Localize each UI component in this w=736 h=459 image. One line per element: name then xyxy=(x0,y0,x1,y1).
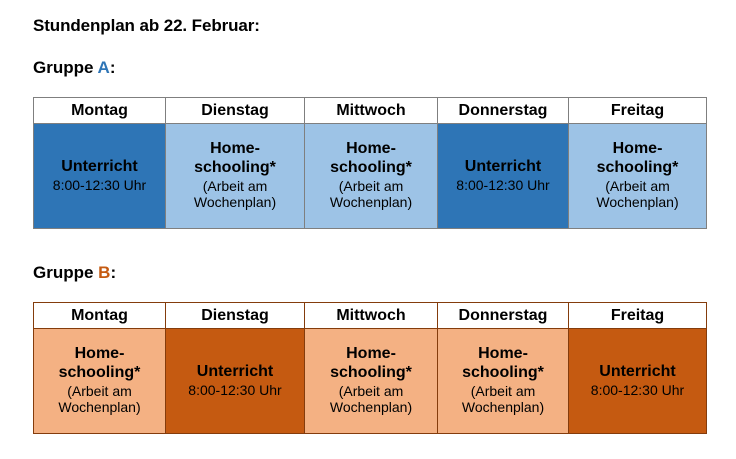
cell-sub-text: (Arbeit amWochenplan) xyxy=(573,178,702,211)
cell-group-b-donnerstag: Home-schooling* (Arbeit amWochenplan) xyxy=(438,329,569,434)
table-row: Home-schooling* (Arbeit amWochenplan) Un… xyxy=(34,329,707,434)
column-header-donnerstag: Donnerstag xyxy=(438,98,569,124)
cell-main-text: Home-schooling* xyxy=(38,345,161,382)
group-b-letter: B xyxy=(98,263,110,282)
cell-group-a-montag: Unterricht 8:00-12:30 Uhr xyxy=(34,124,166,229)
group-a-letter: A xyxy=(98,58,110,77)
cell-group-a-dienstag: Home-schooling* (Arbeit amWochenplan) xyxy=(166,124,305,229)
table-header-row: Montag Dienstag Mittwoch Donnerstag Frei… xyxy=(34,98,707,124)
cell-sub-text: 8:00-12:30 Uhr xyxy=(442,177,564,193)
group-b-label-suffix: : xyxy=(110,263,116,282)
schedule-table-group-a: Montag Dienstag Mittwoch Donnerstag Frei… xyxy=(33,97,707,229)
cell-group-a-freitag: Home-schooling* (Arbeit amWochenplan) xyxy=(569,124,707,229)
column-header-montag: Montag xyxy=(34,303,166,329)
cell-main-text: Home-schooling* xyxy=(170,140,300,177)
cell-main-text: Home-schooling* xyxy=(309,140,433,177)
column-header-freitag: Freitag xyxy=(569,303,707,329)
cell-sub-text: 8:00-12:30 Uhr xyxy=(573,382,702,398)
cell-main-text: Unterricht xyxy=(170,363,300,382)
schedule-page: Stundenplan ab 22. Februar: Gruppe A: Mo… xyxy=(0,0,736,459)
cell-main-text: Home-schooling* xyxy=(309,345,433,382)
group-a-label-prefix: Gruppe xyxy=(33,58,98,77)
cell-group-b-montag: Home-schooling* (Arbeit amWochenplan) xyxy=(34,329,166,434)
cell-sub-text: (Arbeit amWochenplan) xyxy=(309,383,433,416)
column-header-mittwoch: Mittwoch xyxy=(305,98,438,124)
cell-main-text: Unterricht xyxy=(38,158,161,177)
group-a-label-suffix: : xyxy=(110,58,116,77)
cell-main-text: Unterricht xyxy=(442,158,564,177)
group-b-label: Gruppe B: xyxy=(33,263,116,283)
page-title: Stundenplan ab 22. Februar: xyxy=(33,16,260,36)
cell-main-text: Unterricht xyxy=(573,363,702,382)
group-a-label: Gruppe A: xyxy=(33,58,116,78)
cell-sub-text: 8:00-12:30 Uhr xyxy=(170,382,300,398)
cell-sub-text: (Arbeit amWochenplan) xyxy=(442,383,564,416)
schedule-table-group-b: Montag Dienstag Mittwoch Donnerstag Frei… xyxy=(33,302,707,434)
column-header-montag: Montag xyxy=(34,98,166,124)
column-header-mittwoch: Mittwoch xyxy=(305,303,438,329)
column-header-dienstag: Dienstag xyxy=(166,303,305,329)
cell-sub-text: 8:00-12:30 Uhr xyxy=(38,177,161,193)
cell-group-b-mittwoch: Home-schooling* (Arbeit amWochenplan) xyxy=(305,329,438,434)
cell-group-a-mittwoch: Home-schooling* (Arbeit amWochenplan) xyxy=(305,124,438,229)
cell-group-b-freitag: Unterricht 8:00-12:30 Uhr xyxy=(569,329,707,434)
table-header-row: Montag Dienstag Mittwoch Donnerstag Frei… xyxy=(34,303,707,329)
cell-sub-text: (Arbeit amWochenplan) xyxy=(170,178,300,211)
cell-group-a-donnerstag: Unterricht 8:00-12:30 Uhr xyxy=(438,124,569,229)
column-header-freitag: Freitag xyxy=(569,98,707,124)
column-header-donnerstag: Donnerstag xyxy=(438,303,569,329)
cell-sub-text: (Arbeit amWochenplan) xyxy=(309,178,433,211)
table-row: Unterricht 8:00-12:30 Uhr Home-schooling… xyxy=(34,124,707,229)
column-header-dienstag: Dienstag xyxy=(166,98,305,124)
cell-main-text: Home-schooling* xyxy=(442,345,564,382)
cell-main-text: Home-schooling* xyxy=(573,140,702,177)
cell-sub-text: (Arbeit amWochenplan) xyxy=(38,383,161,416)
cell-group-b-dienstag: Unterricht 8:00-12:30 Uhr xyxy=(166,329,305,434)
group-b-label-prefix: Gruppe xyxy=(33,263,98,282)
